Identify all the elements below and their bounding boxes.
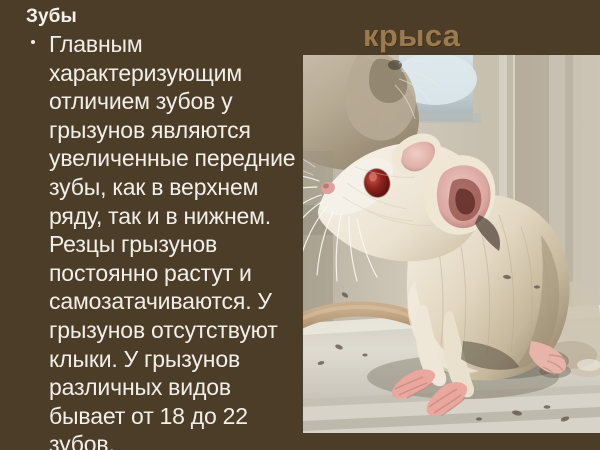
- bullet-list: Главным характеризующим отличием зубов у…: [26, 30, 301, 450]
- rat-photo-illustration: [303, 55, 600, 433]
- list-item: Главным характеризующим отличием зубов у…: [26, 30, 301, 450]
- slide-text-column: Зубы Главным характеризующим отличием зу…: [0, 0, 305, 450]
- presentation-slide: Зубы Главным характеризующим отличием зу…: [0, 0, 600, 450]
- bullet-text: Главным характеризующим отличием зубов у…: [49, 30, 301, 450]
- bullet-dot-icon: [31, 40, 35, 44]
- slide-heading: Зубы: [26, 5, 301, 28]
- rat-photo: [303, 55, 600, 433]
- photo-caption: крыса: [363, 19, 460, 53]
